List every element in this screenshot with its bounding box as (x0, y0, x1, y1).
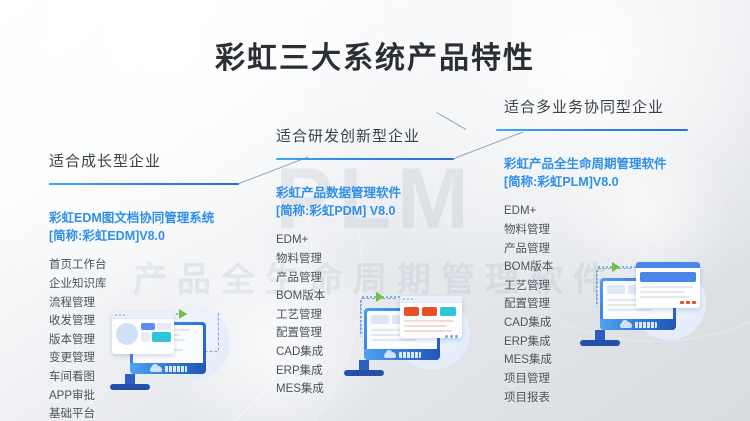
brand-bar (130, 363, 206, 374)
product-name-line2-edm: [简称:彩虹EDM]V8.0 (49, 227, 214, 245)
window-card-pdm (400, 296, 462, 338)
cloud-logo-icon (620, 322, 632, 328)
cloud-logo-icon (150, 366, 162, 372)
illustration-plm (592, 258, 710, 358)
dotted-track-icon (360, 300, 362, 334)
list-item: 物料管理 (276, 250, 420, 269)
dotted-track-icon (596, 270, 598, 304)
brand-text-icon (165, 366, 187, 372)
product-name-line1-edm: 彩虹EDM图文档协同管理系统 (49, 211, 214, 225)
list-item: EDM+ (276, 231, 420, 250)
arrow-right-icon (179, 309, 187, 319)
list-item: 产品管理 (504, 240, 667, 259)
poster-canvas: PLM 产品全生命周期管理软件 彩虹三大系统产品特性 适合成长型企业 彩虹EDM… (0, 0, 750, 421)
list-item: 企业知识库 (49, 275, 214, 294)
list-item: 项目报表 (504, 389, 667, 408)
product-name-pdm: 彩虹产品数据管理软件 [简称:彩虹PDM] V8.0 (276, 184, 420, 220)
product-name-line1-pdm: 彩虹产品数据管理软件 (276, 186, 401, 200)
divider-pdm (276, 152, 420, 166)
audience-heading-pdm: 适合研发创新型企业 (276, 125, 420, 146)
list-item: 产品管理 (276, 269, 420, 288)
list-item: EDM+ (504, 202, 667, 221)
list-item: 基础平台 (49, 405, 214, 421)
illustration-pdm (356, 288, 474, 388)
product-name-line1-plm: 彩虹产品全生命周期管理软件 (504, 157, 667, 171)
arrow-right-icon (612, 262, 620, 272)
page-title: 彩虹三大系统产品特性 (0, 33, 750, 77)
audience-heading-plm: 适合多业务协同型企业 (504, 96, 667, 117)
divider-edm (49, 177, 214, 191)
brand-bar (600, 319, 676, 330)
arrow-right-icon (376, 292, 384, 302)
audience-heading-edm: 适合成长型企业 (49, 150, 214, 171)
illustration-edm (112, 300, 230, 400)
brand-text-icon (399, 352, 421, 358)
product-name-edm: 彩虹EDM图文档协同管理系统 [简称:彩虹EDM]V8.0 (49, 209, 214, 245)
window-card-edm (112, 312, 174, 354)
list-item: 首页工作台 (49, 256, 214, 275)
divider-plm (504, 123, 667, 137)
product-name-line2-pdm: [简称:彩虹PDM] V8.0 (276, 202, 420, 220)
brand-bar (364, 349, 440, 360)
product-name-line2-plm: [简称:彩虹PLM]V8.0 (504, 173, 667, 191)
list-item: 项目管理 (504, 370, 667, 389)
list-item: 物料管理 (504, 221, 667, 240)
column-plm: 适合多业务协同型企业 彩虹产品全生命周期管理软件 [简称:彩虹PLM]V8.0 … (504, 96, 667, 407)
product-name-plm: 彩虹产品全生命周期管理软件 [简称:彩虹PLM]V8.0 (504, 155, 667, 191)
cloud-logo-icon (384, 352, 396, 358)
brand-text-icon (635, 322, 657, 328)
window-card-plm (636, 262, 700, 308)
